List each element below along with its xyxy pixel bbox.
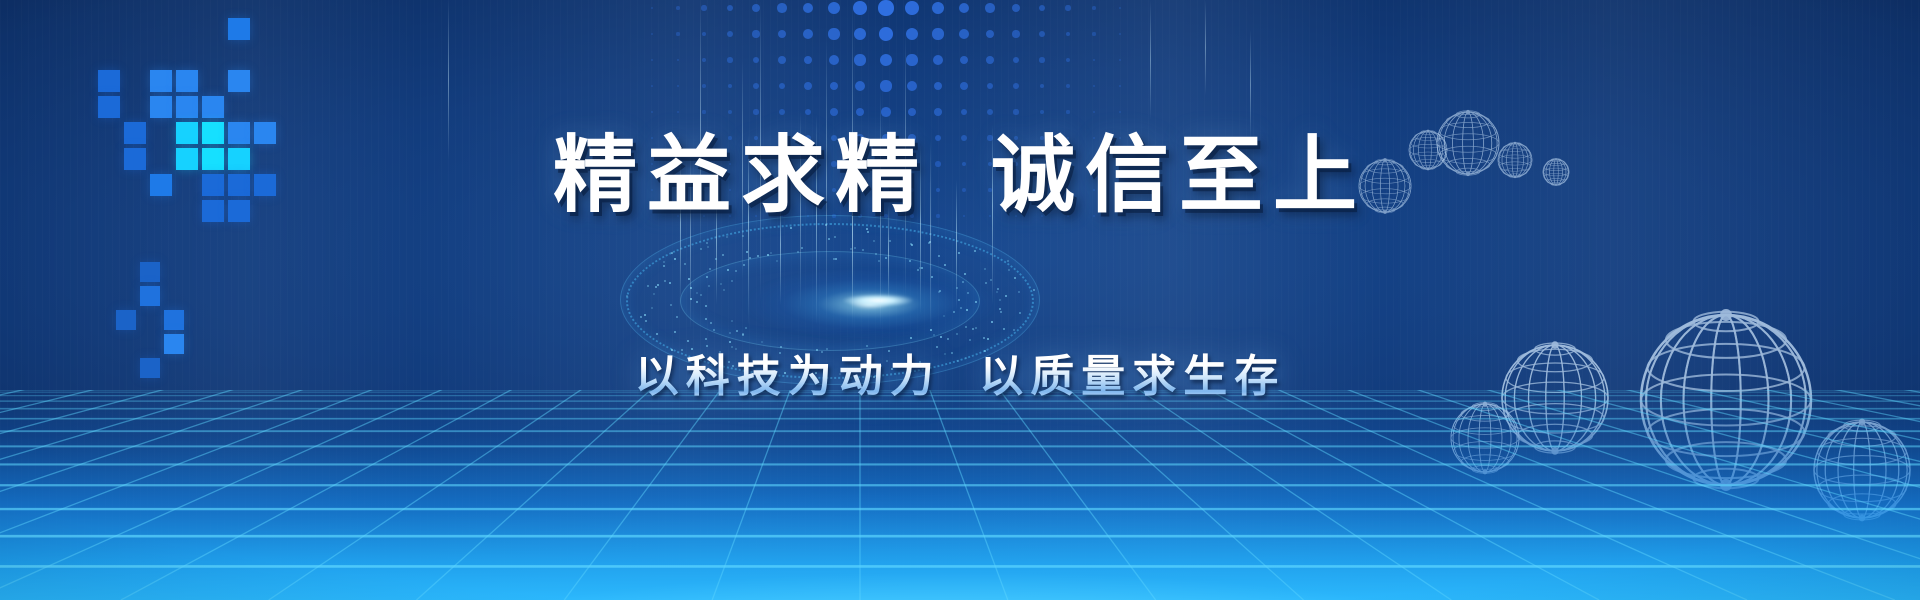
background-light-sheen	[0, 0, 1920, 600]
floor-glow	[0, 490, 1920, 600]
lens-flare-core	[842, 294, 914, 307]
background-light-beams	[0, 0, 1920, 600]
perspective-grid-floor	[0, 390, 1920, 600]
lens-flare-glow	[740, 267, 1000, 341]
ring-inner-ellipse	[680, 251, 980, 351]
wireframe-globe-cluster-lower	[1380, 290, 1920, 600]
hero-banner: 以科技为动力 以质量求生存 精益求精 诚信至上 以科技为动力 以质量求生存	[0, 0, 1920, 600]
headline-slogan: 精益求精 诚信至上	[0, 108, 1920, 229]
vignette-overlay	[0, 0, 1920, 600]
background-stripe-texture	[0, 0, 1920, 600]
grid-lines	[0, 390, 1920, 600]
subtitle-slogan: 以科技为动力 以质量求生存	[0, 340, 1920, 404]
